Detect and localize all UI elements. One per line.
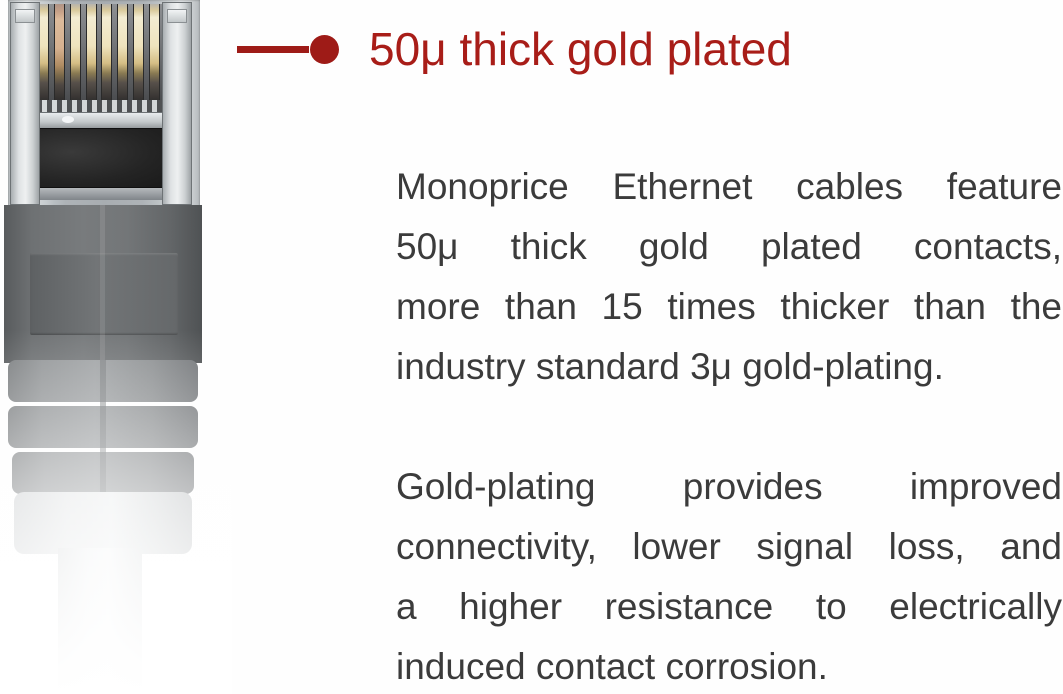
strain-relief-boot xyxy=(4,205,202,363)
paragraph-1-line-2: 50μ thick gold plated contacts, xyxy=(396,217,1062,277)
feature-description: Monoprice Ethernet cables feature 50μ th… xyxy=(396,157,1062,694)
paragraph-2: Gold-plating provides improved connectiv… xyxy=(396,457,1062,694)
boot-rib-seam xyxy=(100,360,106,494)
gold-pin-8 xyxy=(149,4,160,100)
callout-dot-icon xyxy=(310,35,339,64)
paragraph-1: Monoprice Ethernet cables feature 50μ th… xyxy=(396,157,1062,397)
housing-rail-right xyxy=(162,2,192,205)
boot-seam xyxy=(100,205,105,363)
cable-collar xyxy=(14,492,192,554)
connector-cavity xyxy=(30,128,168,188)
gold-pin-7 xyxy=(133,4,144,100)
gold-contact-pins xyxy=(36,4,162,100)
feature-callout: 50μ thick gold plated xyxy=(237,26,792,72)
paragraph-2-line-4: induced contact corrosion. xyxy=(396,637,1062,694)
housing-ledge xyxy=(30,112,168,129)
product-feature-graphic: 50μ thick gold plated Monoprice Ethernet… xyxy=(0,0,1063,694)
rj45-connector-photo xyxy=(0,0,232,694)
paragraph-1-line-4: industry standard 3μ gold-plating. xyxy=(396,337,1062,397)
housing-notch-left xyxy=(15,9,35,23)
housing-notch-right xyxy=(167,9,187,23)
paragraph-2-line-3: a higher resistance to electrically xyxy=(396,577,1062,637)
housing-rail-left xyxy=(10,2,40,205)
paragraph-1-line-3: more than 15 times thicker than the xyxy=(396,277,1062,337)
gold-pin-6 xyxy=(117,4,128,100)
ethernet-cable-jacket xyxy=(58,548,142,694)
housing-ledge-highlight xyxy=(62,116,74,123)
contact-stripe-band xyxy=(32,100,166,112)
gold-pin-4 xyxy=(86,4,97,100)
gold-pin-5 xyxy=(101,4,112,100)
gold-pin-2 xyxy=(54,4,65,100)
paragraph-1-line-1: Monoprice Ethernet cables feature xyxy=(396,157,1062,217)
paragraph-2-line-1: Gold-plating provides improved xyxy=(396,457,1062,517)
gold-pin-3 xyxy=(70,4,81,100)
paragraph-2-line-2: connectivity, lower signal loss, and xyxy=(396,517,1062,577)
connector-cavity-lip xyxy=(28,188,170,200)
callout-leader-line-icon xyxy=(237,46,309,53)
callout-headline: 50μ thick gold plated xyxy=(369,26,792,72)
